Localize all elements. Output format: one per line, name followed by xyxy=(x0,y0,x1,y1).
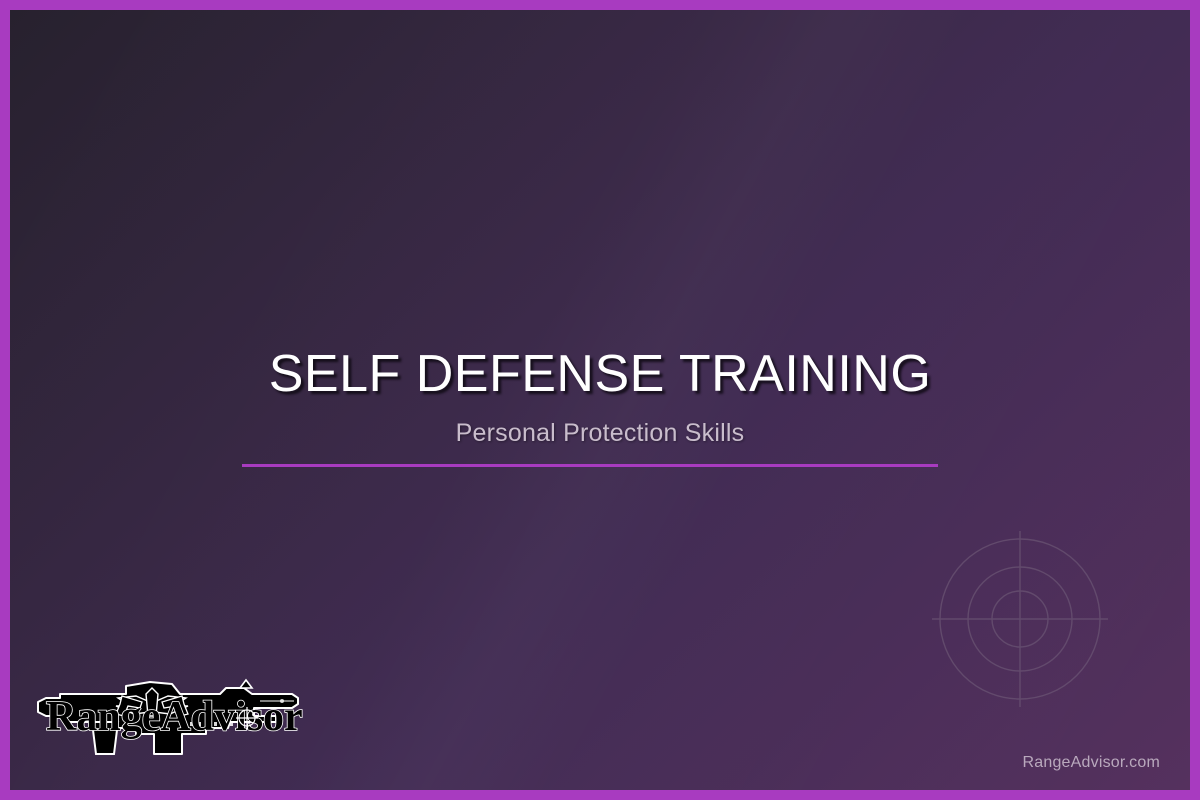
brand-wordmark: RangeAdvisor xyxy=(46,694,303,740)
page-title: SELF DEFENSE TRAINING xyxy=(10,346,1190,402)
footer-url: RangeAdvisor.com xyxy=(1023,754,1161,772)
slide-canvas: SELF DEFENSE TRAINING Personal Protectio… xyxy=(10,10,1190,790)
page-subtitle: Personal Protection Skills xyxy=(10,419,1190,448)
title-block: SELF DEFENSE TRAINING Personal Protectio… xyxy=(10,346,1190,448)
crosshair-target-icon xyxy=(922,521,1118,717)
title-divider xyxy=(242,464,938,467)
brand-logo: RangeAdvisor xyxy=(30,672,308,764)
slide-frame: SELF DEFENSE TRAINING Personal Protectio… xyxy=(0,0,1200,800)
